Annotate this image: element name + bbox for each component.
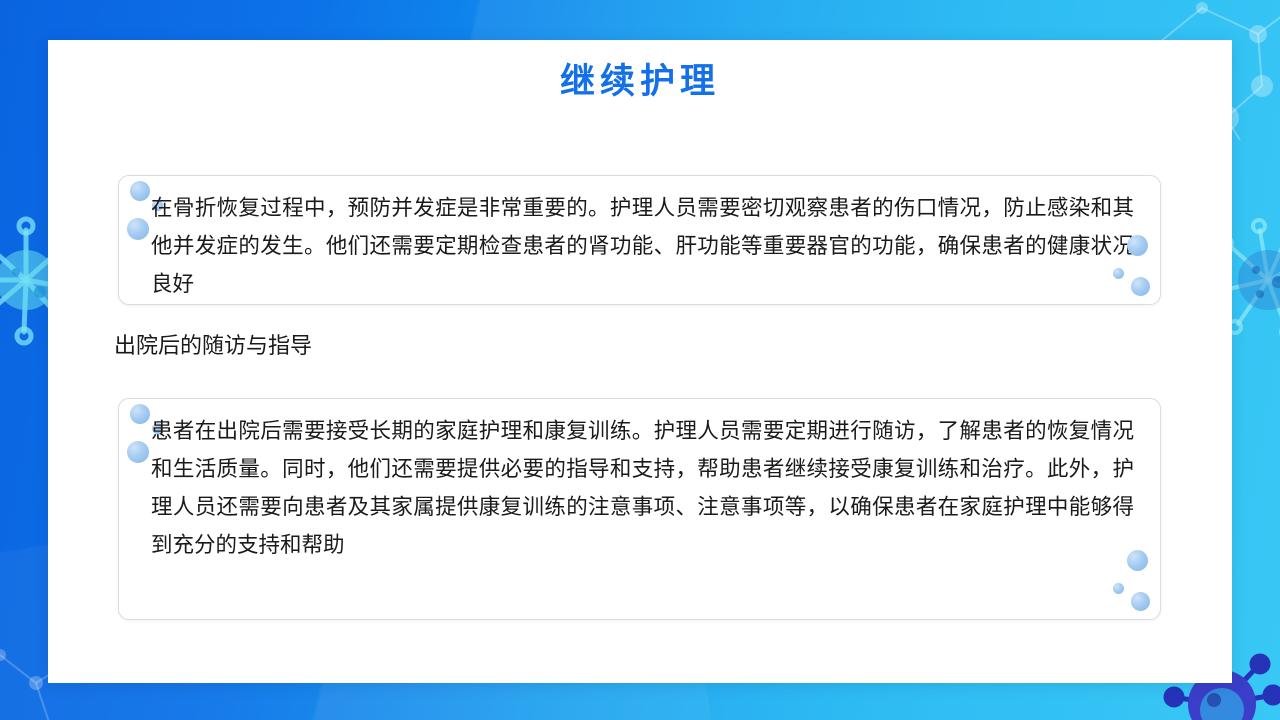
decorative-dot-large-icon (1127, 550, 1148, 571)
decorative-dot-medium-icon (1131, 592, 1150, 611)
decorative-dot-small-icon (1113, 268, 1124, 279)
content-box-1[interactable]: 在骨折恢复过程中，预防并发症是非常重要的。护理人员需要密切观察患者的伤口情况，防… (118, 175, 1161, 305)
slide-root: 继续护理 在骨折恢复过程中，预防并发症是非常重要的。护理人员需要密切观察患者的伤… (0, 0, 1280, 720)
content-box-1-text: 在骨折恢复过程中，预防并发症是非常重要的。护理人员需要密切观察患者的伤口情况，防… (119, 176, 1160, 314)
content-box-2-text: 患者在出院后需要接受长期的家庭护理和康复训练。护理人员需要定期进行随访，了解患者… (119, 399, 1160, 575)
decorative-dot-large-icon (1127, 235, 1148, 256)
content-box-2[interactable]: 患者在出院后需要接受长期的家庭护理和康复训练。护理人员需要定期进行随访，了解患者… (118, 398, 1161, 620)
slide-card: 继续护理 在骨折恢复过程中，预防并发症是非常重要的。护理人员需要密切观察患者的伤… (48, 40, 1232, 683)
decorative-dot-small-icon (1113, 583, 1124, 594)
page-title: 继续护理 (48, 59, 1232, 105)
decorative-dot-medium-icon (1131, 277, 1150, 296)
section-heading: 出院后的随访与指导 (114, 330, 312, 364)
